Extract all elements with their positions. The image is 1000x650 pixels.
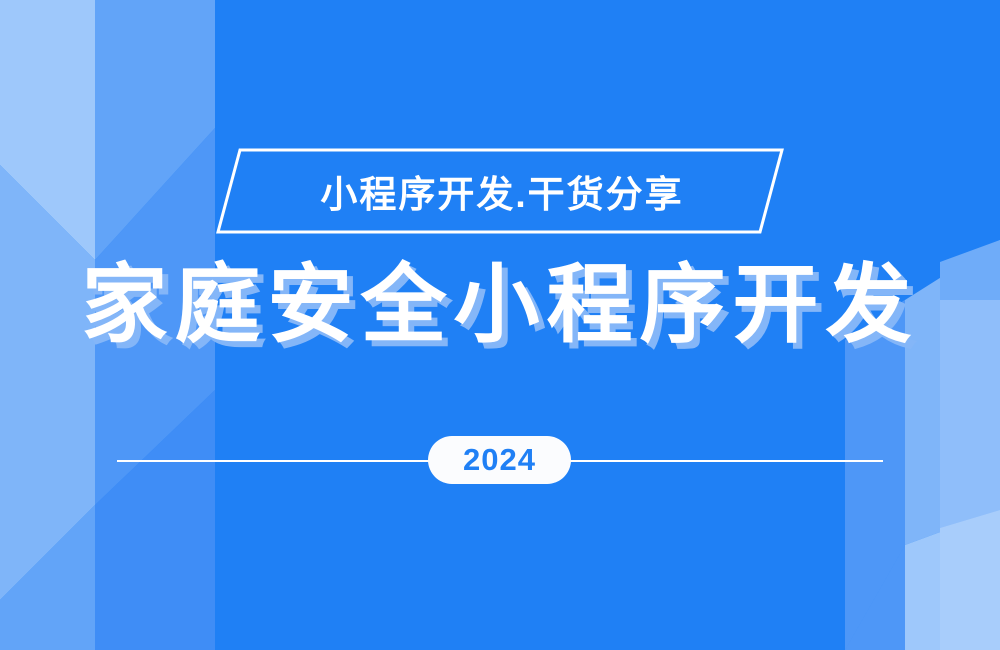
banner: 小程序开发.干货分享 (210, 146, 790, 236)
year-badge: 2024 (428, 436, 571, 484)
year-rule-right (563, 460, 883, 462)
page-title: 家庭安全小程序开发 (0, 262, 1000, 348)
year-rule-left (117, 460, 435, 462)
banner-label: 小程序开发.干货分享 (210, 146, 790, 236)
poster-canvas: 小程序开发.干货分享 家庭安全小程序开发 2024 (0, 0, 1000, 650)
year-label: 2024 (463, 442, 536, 478)
